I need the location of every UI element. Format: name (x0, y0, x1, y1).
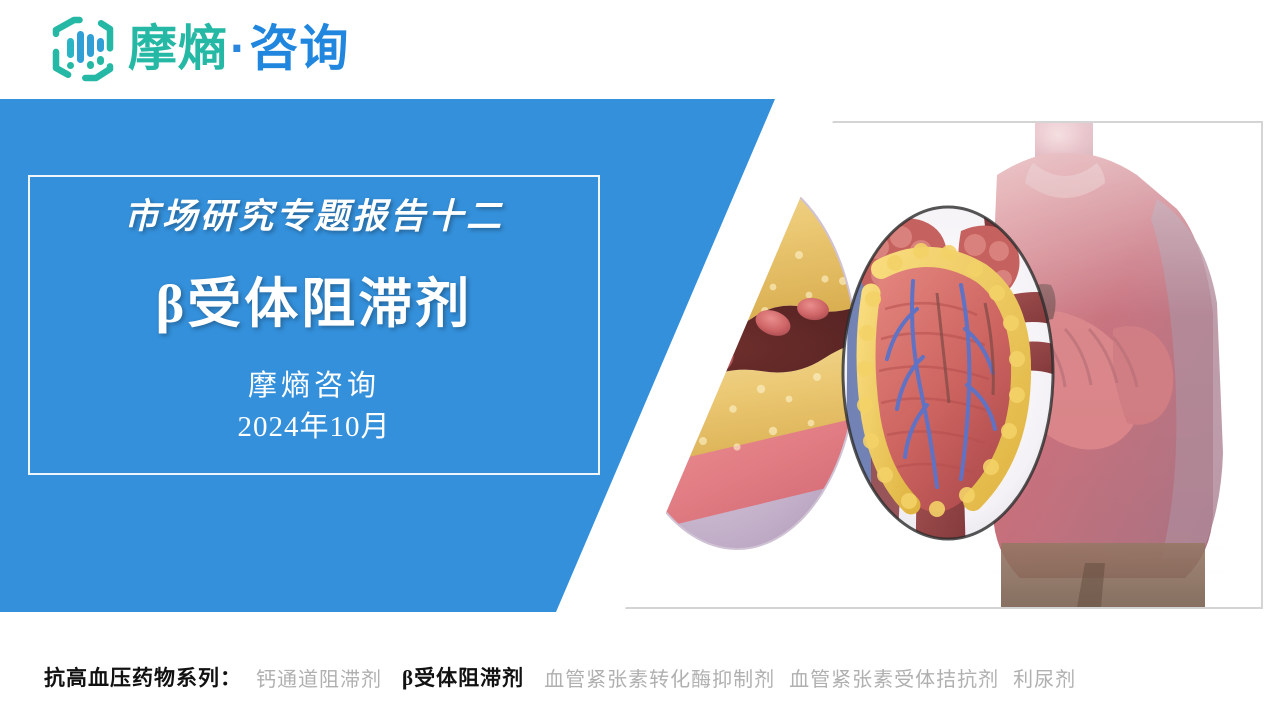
report-organization: 摩熵咨询 (248, 369, 380, 404)
footer-item-beta-blocker[interactable]: β受体阻滞剂 (402, 662, 524, 692)
page-title: β受体阻滞剂 (156, 273, 472, 335)
footer-item-acei[interactable]: 血管紧张素转化酶抑制剂 (544, 663, 775, 692)
mosi-hexagon-bars-logo-icon (44, 12, 118, 86)
report-date: 2024年10月 (237, 410, 390, 445)
brand-name-cn: 摩熵 (128, 25, 228, 74)
presentation-cover-slide: 摩熵·咨询 市场研究专题报告十二 β受体阻滞剂 摩熵咨询 2024年10月 (0, 0, 1280, 720)
logo-bar: 摩熵·咨询 (0, 0, 1280, 99)
report-series-label: 市场研究专题报告十二 (124, 195, 504, 239)
brand-logo[interactable]: 摩熵·咨询 (44, 12, 349, 86)
footer-item-arb[interactable]: 血管紧张素受体拮抗剂 (789, 663, 999, 692)
footer-label: 抗高血压药物系列： (44, 662, 242, 692)
brand-suffix-cn: 咨询 (249, 25, 349, 74)
footer-item-diuretic[interactable]: 利尿剂 (1013, 663, 1076, 692)
brand-wordmark: 摩熵·咨询 (128, 25, 349, 74)
footer-series-nav: 抗高血压药物系列： 钙通道阻滞剂 β受体阻滞剂 血管紧张素转化酶抑制剂 血管紧张… (0, 652, 1280, 702)
title-block: 市场研究专题报告十二 β受体阻滞剂 摩熵咨询 2024年10月 (28, 175, 600, 475)
brand-separator-dot: · (228, 25, 249, 74)
footer-item-ccb[interactable]: 钙通道阻滞剂 (256, 663, 382, 692)
